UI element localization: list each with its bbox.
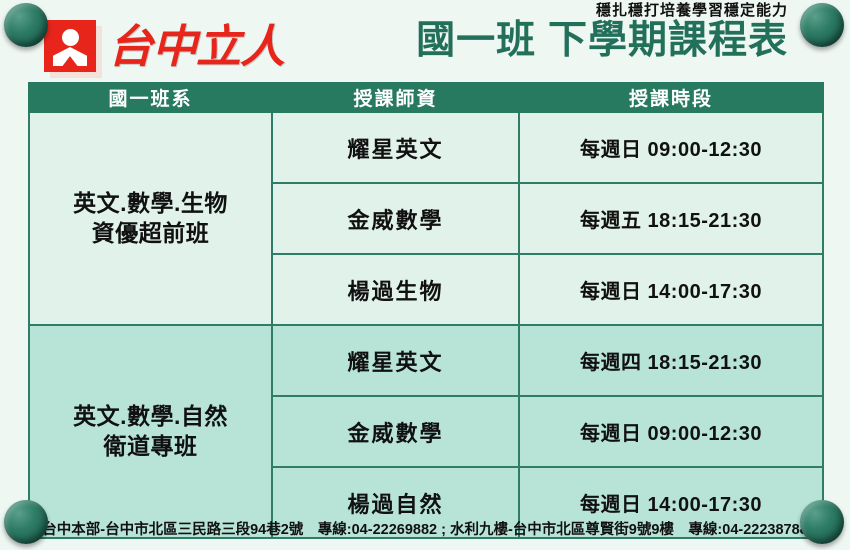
- table-header-row: 國一班系 授課師資 授課時段: [29, 83, 823, 112]
- page-header: 台中立人 穩扎穩打培養學習穩定能力 國一班 下學期課程表: [0, 0, 850, 82]
- column-header-time: 授課時段: [519, 83, 823, 112]
- program-line-1: 英文.數學.自然: [73, 403, 228, 429]
- table-row: 英文.數學.生物 資優超前班 耀星英文 每週日 09:00-12:30: [29, 112, 823, 183]
- time-cell: 每週四 18:15-21:30: [519, 325, 823, 396]
- time-cell: 每週日 09:00-12:30: [519, 112, 823, 183]
- time-cell: 每週日 09:00-12:30: [519, 396, 823, 467]
- footer-contact-info: 台中本部-台中市北區三民路三段94巷2號 專線:04-22269882 ; 水利…: [0, 518, 850, 539]
- column-header-teacher: 授課師資: [272, 83, 519, 112]
- title-block: 穩扎穩打培養學習穩定能力 國一班 下學期課程表: [416, 2, 788, 62]
- teacher-cell: 金威數學: [272, 183, 519, 254]
- brand-name: 台中立人: [108, 24, 284, 69]
- schedule-table: 國一班系 授課師資 授課時段 英文.數學.生物 資優超前班 耀星英文 每週日 0…: [28, 82, 824, 539]
- corner-orb-top-left: [4, 3, 48, 47]
- teacher-cell: 金威數學: [272, 396, 519, 467]
- page-subtitle: 穩扎穩打培養學習穩定能力: [416, 2, 788, 20]
- person-head-shape: [62, 29, 79, 46]
- program-cell: 英文.數學.自然 衛道專班: [29, 325, 272, 538]
- person-body-shape: [53, 47, 87, 66]
- time-cell: 每週五 18:15-21:30: [519, 183, 823, 254]
- teacher-cell: 耀星英文: [272, 325, 519, 396]
- schedule-table-body: 英文.數學.生物 資優超前班 耀星英文 每週日 09:00-12:30 金威數學…: [29, 112, 823, 538]
- time-cell: 每週日 14:00-17:30: [519, 254, 823, 325]
- person-figure-icon: [44, 20, 96, 72]
- corner-orb-bottom-left: [4, 500, 48, 544]
- schedule-table-wrap: 國一班系 授課師資 授課時段 英文.數學.生物 資優超前班 耀星英文 每週日 0…: [28, 82, 822, 539]
- program-line-2: 衛道專班: [104, 433, 198, 459]
- corner-orb-bottom-right: [800, 500, 844, 544]
- table-row: 英文.數學.自然 衛道專班 耀星英文 每週四 18:15-21:30: [29, 325, 823, 396]
- column-header-program: 國一班系: [29, 83, 272, 112]
- program-line-2: 資優超前班: [92, 220, 210, 246]
- teacher-cell: 耀星英文: [272, 112, 519, 183]
- brand-logo: 台中立人: [44, 20, 284, 72]
- corner-orb-top-right: [800, 3, 844, 47]
- teacher-cell: 楊過生物: [272, 254, 519, 325]
- program-line-1: 英文.數學.生物: [73, 190, 228, 216]
- program-cell: 英文.數學.生物 資優超前班: [29, 112, 272, 325]
- page-title: 國一班 下學期課程表: [416, 21, 788, 62]
